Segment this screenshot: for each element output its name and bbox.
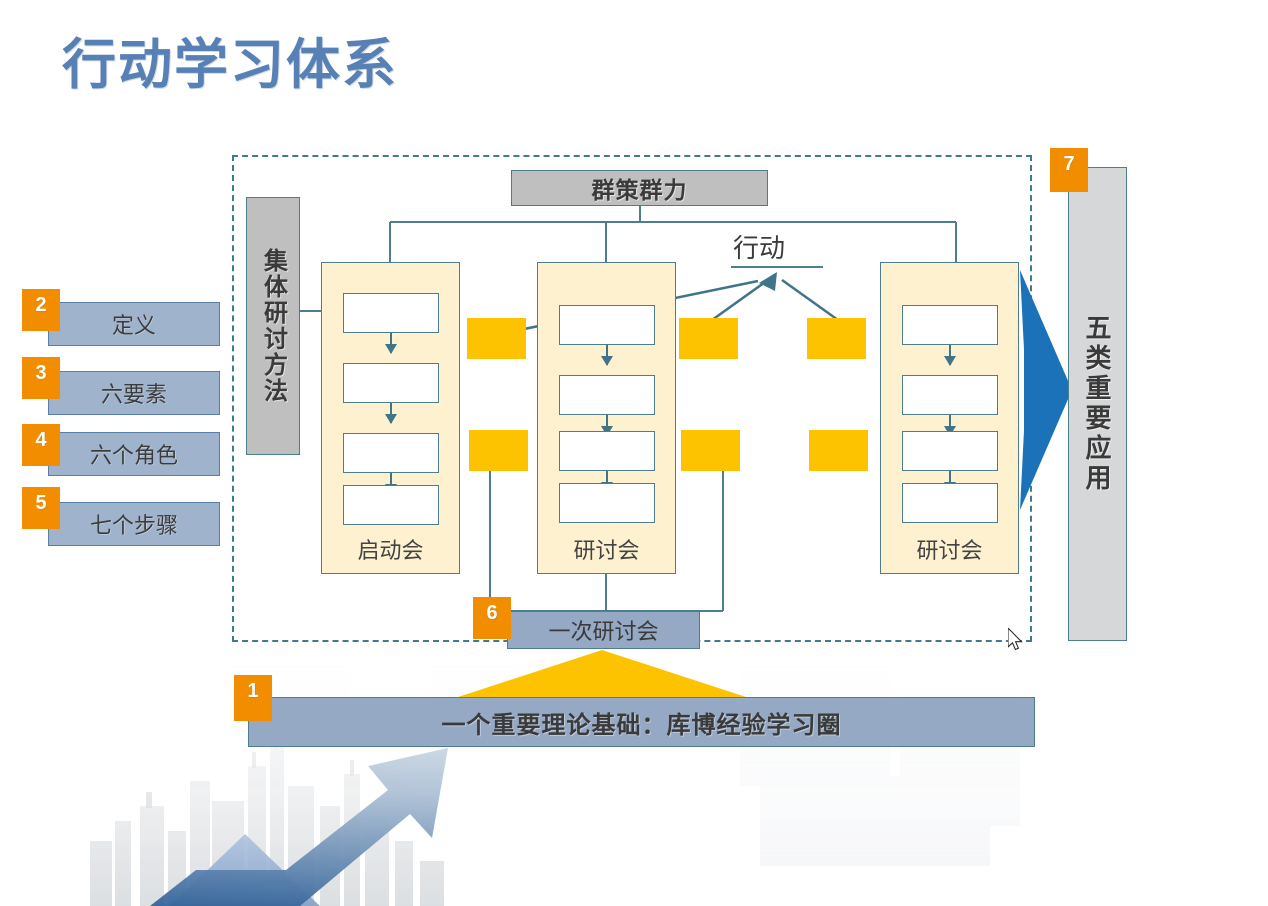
step-box[interactable]	[902, 375, 998, 415]
column-workshop-1: 研讨会	[537, 262, 676, 574]
action-label: 行动	[733, 228, 785, 265]
sidebar-item-definition[interactable]: 定义	[48, 302, 220, 346]
step-box[interactable]	[902, 431, 998, 471]
slide-canvas: 行动学习体系 2 定义 3 六要素 4 六个角色 5 七个步骤	[0, 0, 1268, 906]
method-box: 集体研讨方法	[246, 197, 300, 455]
column-label: 启动会	[322, 533, 459, 565]
session-box-label: 一次研讨会	[548, 614, 658, 646]
yellow-triangle-connector	[455, 650, 749, 698]
yellow-block[interactable]	[679, 318, 738, 359]
apply-badge-7: 7	[1050, 148, 1088, 192]
action-underline	[731, 266, 823, 268]
step-box[interactable]	[902, 305, 998, 345]
sidebar-badge-4: 4	[22, 424, 60, 466]
mouse-cursor-icon	[1008, 628, 1024, 652]
step-box[interactable]	[343, 485, 439, 525]
sidebar-badge-3: 3	[22, 357, 60, 399]
yellow-block[interactable]	[469, 430, 528, 471]
step-box[interactable]	[902, 483, 998, 523]
step-arrow-icon	[390, 403, 392, 423]
step-box[interactable]	[559, 375, 655, 415]
sidebar-badge-5: 5	[22, 487, 60, 529]
step-box[interactable]	[343, 433, 439, 473]
sidebar-item-label: 七个步骤	[90, 508, 178, 540]
step-box[interactable]	[559, 483, 655, 523]
page-title: 行动学习体系	[62, 20, 398, 99]
column-workshop-2: 研讨会	[880, 262, 1019, 574]
bottom-banner-label: 一个重要理论基础：库博经验学习圈	[442, 705, 842, 740]
step-box[interactable]	[343, 293, 439, 333]
sidebar-item-six-elements[interactable]: 六要素	[48, 371, 220, 415]
session-box[interactable]: 一次研讨会	[507, 611, 700, 649]
column-label: 研讨会	[538, 533, 675, 565]
bottom-banner[interactable]: 一个重要理论基础：库博经验学习圈	[248, 697, 1035, 747]
session-badge-6: 6	[473, 597, 511, 639]
yellow-block[interactable]	[807, 318, 866, 359]
sidebar-item-label: 定义	[112, 308, 156, 340]
column-label: 研讨会	[881, 533, 1018, 565]
apply-box[interactable]: 五类重要应用	[1068, 167, 1127, 641]
sidebar-item-label: 六要素	[101, 377, 167, 409]
sidebar-badge-2: 2	[22, 289, 60, 331]
step-box[interactable]	[559, 431, 655, 471]
yellow-block[interactable]	[809, 430, 868, 471]
bottom-badge-1: 1	[234, 675, 272, 721]
top-banner: 群策群力	[511, 170, 768, 206]
sidebar-item-seven-steps[interactable]: 七个步骤	[48, 502, 220, 546]
yellow-block[interactable]	[681, 430, 740, 471]
step-box[interactable]	[559, 305, 655, 345]
yellow-block[interactable]	[467, 318, 526, 359]
step-arrow-icon	[606, 345, 608, 365]
step-arrow-icon	[390, 333, 392, 353]
sidebar-item-label: 六个角色	[90, 438, 178, 470]
step-arrow-icon	[949, 345, 951, 365]
blue-chevron-arrow-icon	[1020, 270, 1072, 510]
column-kickoff: 启动会	[321, 262, 460, 574]
sidebar-item-six-roles[interactable]: 六个角色	[48, 432, 220, 476]
step-box[interactable]	[343, 363, 439, 403]
